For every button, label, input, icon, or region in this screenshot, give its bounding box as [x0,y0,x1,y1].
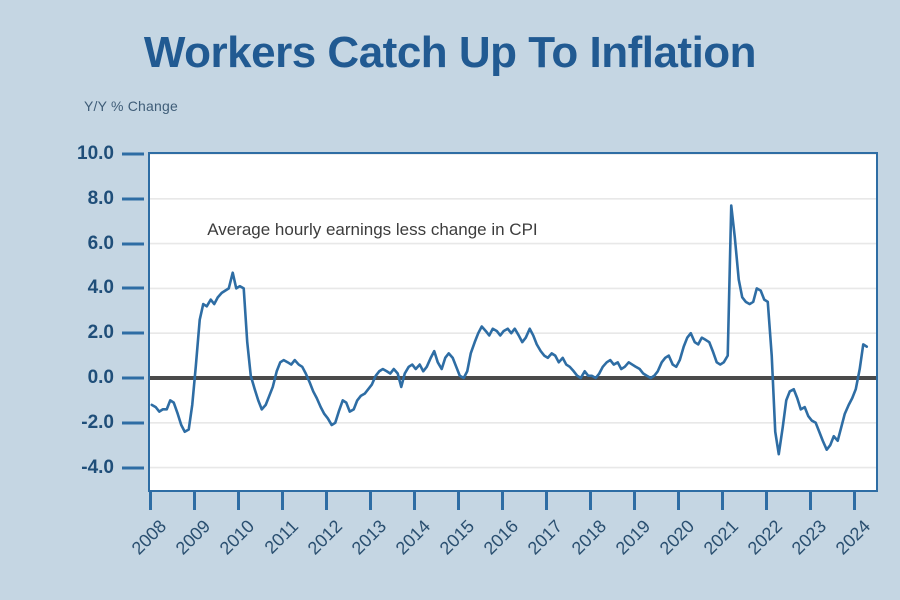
y-axis-tick-mark [122,421,144,424]
y-axis-tick-mark [122,197,144,200]
x-axis-tick-mark [281,492,284,510]
x-axis-tick-label: 2015 [431,516,478,563]
y-axis-tick-label: 2.0 [40,322,114,344]
x-axis-tick-label: 2013 [343,516,390,563]
x-axis-tick-label: 2018 [563,516,610,563]
chart-annotation: Average hourly earnings less change in C… [207,220,537,240]
x-axis-tick-label: 2021 [695,516,742,563]
x-axis-tick-mark [633,492,636,510]
x-axis-tick-mark [809,492,812,510]
y-axis-tick-mark [122,466,144,469]
y-axis-tick-mark [122,332,144,335]
x-axis-tick-label: 2023 [783,516,830,563]
x-axis-tick-label: 2010 [211,516,258,563]
x-axis-tick-mark [765,492,768,510]
y-axis-tick-mark [122,242,144,245]
x-axis-tick-mark [545,492,548,510]
x-axis-tick-label: 2024 [827,516,874,563]
x-axis-tick-label: 2012 [299,516,346,563]
series-plot [150,154,876,490]
y-axis-tick-mark [122,287,144,290]
x-axis-tick-mark [325,492,328,510]
x-axis-tick-mark [589,492,592,510]
x-axis-tick-mark [369,492,372,510]
x-axis-tick-label: 2016 [475,516,522,563]
x-axis-tick-mark [501,492,504,510]
y-axis-tick-label: 0.0 [40,367,114,389]
x-axis-tick-mark [457,492,460,510]
x-axis-tick-label: 2014 [387,516,434,563]
x-axis-tick-mark [193,492,196,510]
x-axis-tick-label: 2011 [255,516,302,563]
x-axis-tick-label: 2008 [123,516,170,563]
y-axis-tick-label: 10.0 [40,143,114,165]
plot-area: Average hourly earnings less change in C… [148,152,878,492]
gridlines [150,154,876,468]
y-axis-tick-mark [122,377,144,380]
x-axis-tick-label: 2020 [651,516,698,563]
y-axis-tick-mark [122,153,144,156]
page-title: Workers Catch Up To Inflation [0,28,900,78]
x-axis-tick-mark [677,492,680,510]
x-axis-tick-mark [149,492,152,510]
x-axis-tick-mark [853,492,856,510]
x-axis-tick-mark [413,492,416,510]
chart-container: Workers Catch Up To Inflation Y/Y % Chan… [0,0,900,600]
x-axis-tick-label: 2009 [167,516,214,563]
y-axis-tick-label: -4.0 [40,457,114,479]
axis-unit-label: Y/Y % Change [84,98,178,114]
y-axis-tick-label: 4.0 [40,277,114,299]
x-axis-tick-label: 2017 [519,516,566,563]
x-axis-tick-mark [721,492,724,510]
x-axis-tick-label: 2019 [607,516,654,563]
x-axis-tick-label: 2022 [739,516,786,563]
y-axis-tick-label: 8.0 [40,188,114,210]
x-axis-tick-mark [237,492,240,510]
y-axis-tick-label: -2.0 [40,412,114,434]
y-axis-tick-label: 6.0 [40,233,114,255]
